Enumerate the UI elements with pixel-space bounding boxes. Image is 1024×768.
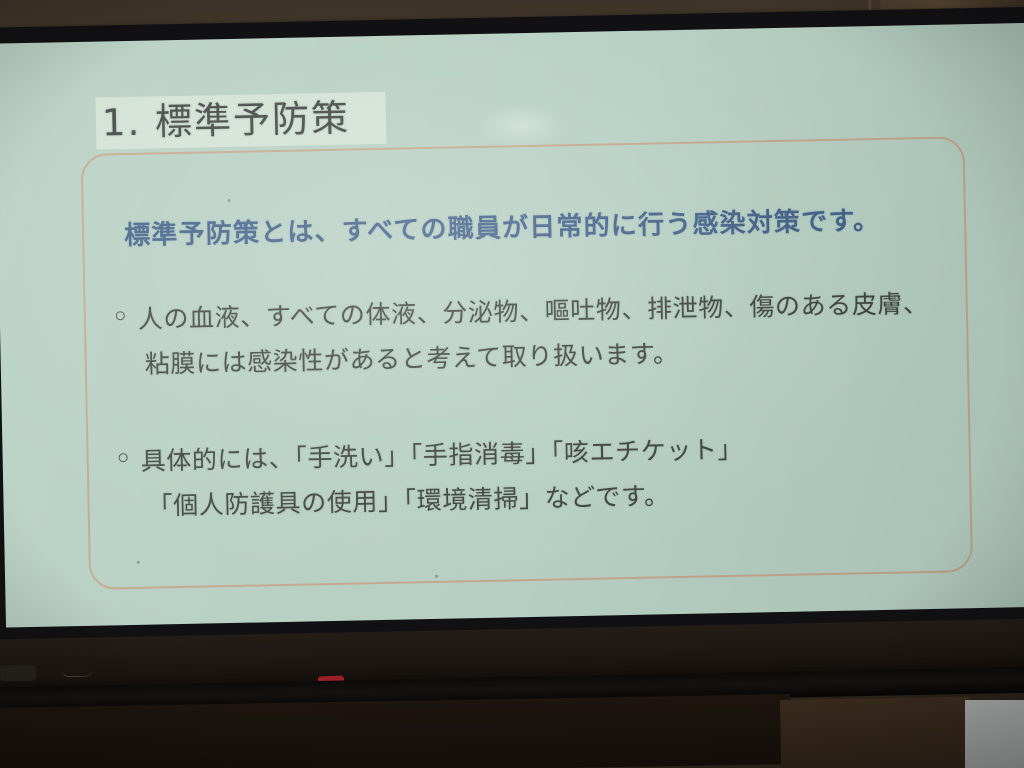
tray-clip	[0, 665, 36, 682]
list-item: 人の血液、すべての体液、分泌物、嘔吐物、排泄物、傷のある皮膚、 粘膜には感染性が…	[115, 281, 947, 388]
slide-bullet-list: 人の血液、すべての体液、分泌物、嘔吐物、排泄物、傷のある皮膚、 粘膜には感染性が…	[115, 281, 951, 582]
slide: 1. 標準予防策 標準予防策とは、すべての職員が日常的に行う感染対策です。 人の…	[0, 23, 1024, 628]
projection-screen: 1. 標準予防策 標準予防策とは、すべての職員が日常的に行う感染対策です。 人の…	[0, 23, 1024, 628]
list-item-text: 具体的には、「手洗い」「手指消毒」「咳エチケット」 「個人防護具の使用」「環境清…	[118, 423, 950, 530]
circle-outline-bullet-icon	[119, 453, 128, 462]
slide-title: 1. 標準予防策	[101, 95, 350, 148]
cable	[60, 662, 94, 678]
list-item: 具体的には、「手洗い」「手指消毒」「咳エチケット」 「個人防護具の使用」「環境清…	[118, 423, 950, 530]
window-light-strip	[965, 700, 1024, 768]
cabinet-below	[0, 694, 791, 768]
photo-scene: 1. 標準予防策 標準予防策とは、すべての職員が日常的に行う感染対策です。 人の…	[0, 0, 1024, 768]
list-item-text: 人の血液、すべての体液、分泌物、嘔吐物、排泄物、傷のある皮膚、 粘膜には感染性が…	[115, 281, 947, 388]
cabinet-right-section	[780, 697, 971, 768]
projection-screen-assembly: 1. 標準予防策 標準予防策とは、すべての職員が日常的に行う感染対策です。 人の…	[0, 6, 1024, 643]
